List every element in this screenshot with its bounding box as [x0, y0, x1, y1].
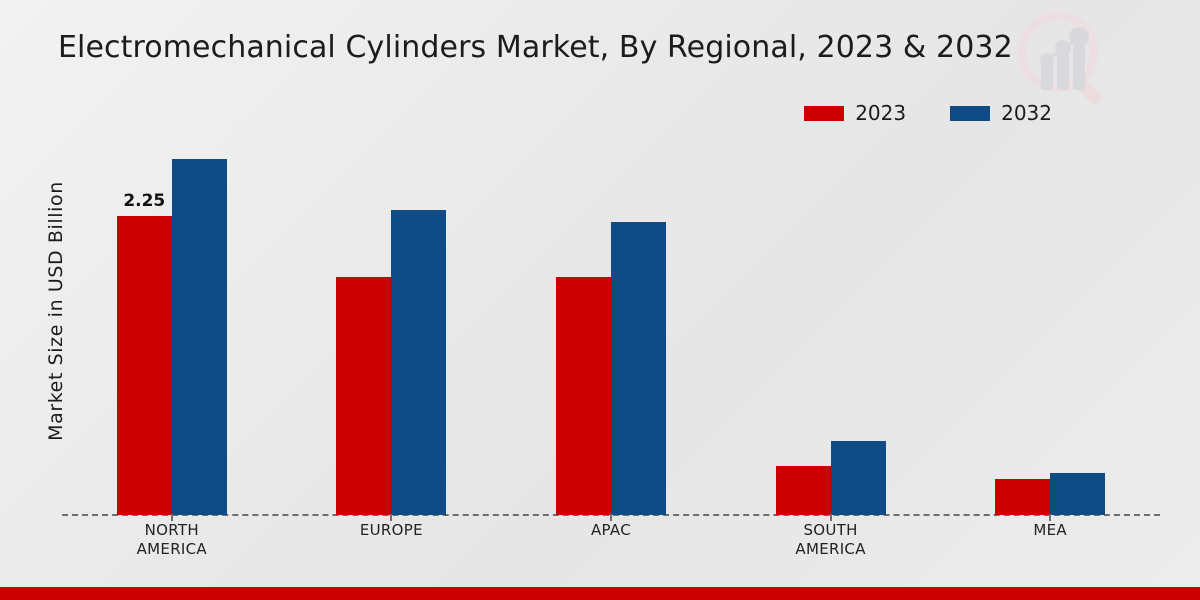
- x-axis-label-line: EUROPE: [282, 521, 502, 540]
- bar-group: 2.25: [62, 130, 282, 515]
- page-title: Electromechanical Cylinders Market, By R…: [58, 30, 1013, 65]
- bar-group: [282, 130, 502, 515]
- bar-2032[interactable]: [172, 159, 227, 515]
- bar-pair: [117, 130, 227, 515]
- legend-label-2023: 2023: [855, 103, 906, 123]
- x-axis-tick: [830, 514, 832, 521]
- legend-item-2023[interactable]: 2023: [804, 103, 906, 123]
- x-axis-label-line: SOUTH: [721, 521, 941, 540]
- x-axis-label-line: APAC: [501, 521, 721, 540]
- bar-pair: [995, 130, 1105, 515]
- bar-2032[interactable]: [1050, 473, 1105, 515]
- bar-2032[interactable]: [831, 441, 886, 515]
- legend-swatch-2032: [950, 106, 990, 121]
- x-axis-label-line: MEA: [940, 521, 1160, 540]
- x-axis-label-mea: MEA: [940, 521, 1160, 559]
- x-axis-tick: [1049, 514, 1051, 521]
- bar-group: [501, 130, 721, 515]
- x-axis-label-line: AMERICA: [721, 540, 941, 559]
- bar-2023[interactable]: [117, 216, 172, 515]
- bar-group: [721, 130, 941, 515]
- x-axis-tick: [610, 514, 612, 521]
- bar-pair: [556, 130, 666, 515]
- x-axis-category-labels: NORTHAMERICAEUROPEAPACSOUTHAMERICAMEA: [62, 521, 1160, 559]
- bar-pair: [776, 130, 886, 515]
- x-axis-label-north-america: NORTHAMERICA: [62, 521, 282, 559]
- chart-legend: 2023 2032: [804, 103, 1052, 123]
- legend-swatch-2023: [804, 106, 844, 121]
- x-axis-tick: [171, 514, 173, 521]
- x-axis-label-line: NORTH: [62, 521, 282, 540]
- bar-2023[interactable]: [776, 466, 831, 515]
- bar-2032[interactable]: [611, 222, 666, 515]
- chart-canvas: Electromechanical Cylinders Market, By R…: [0, 0, 1200, 600]
- bar-2023[interactable]: [556, 277, 611, 515]
- footer-accent-bar: [0, 587, 1200, 600]
- x-axis-label-apac: APAC: [501, 521, 721, 559]
- legend-item-2032[interactable]: 2032: [950, 103, 1052, 123]
- bar-2023[interactable]: [336, 277, 391, 515]
- bar-2023[interactable]: [995, 479, 1050, 515]
- bar-2032[interactable]: [391, 210, 446, 515]
- bar-value-label: 2.25: [117, 191, 172, 211]
- magnifier-bar-chart-watermark-icon: [1010, 4, 1118, 112]
- bar-pair: [336, 130, 446, 515]
- legend-label-2032: 2032: [1001, 103, 1052, 123]
- bar-groups: 2.25: [62, 130, 1160, 515]
- x-axis-tick: [390, 514, 392, 521]
- x-axis-label-south-america: SOUTHAMERICA: [721, 521, 941, 559]
- x-axis-label-europe: EUROPE: [282, 521, 502, 559]
- x-axis-label-line: AMERICA: [62, 540, 282, 559]
- bar-group: [940, 130, 1160, 515]
